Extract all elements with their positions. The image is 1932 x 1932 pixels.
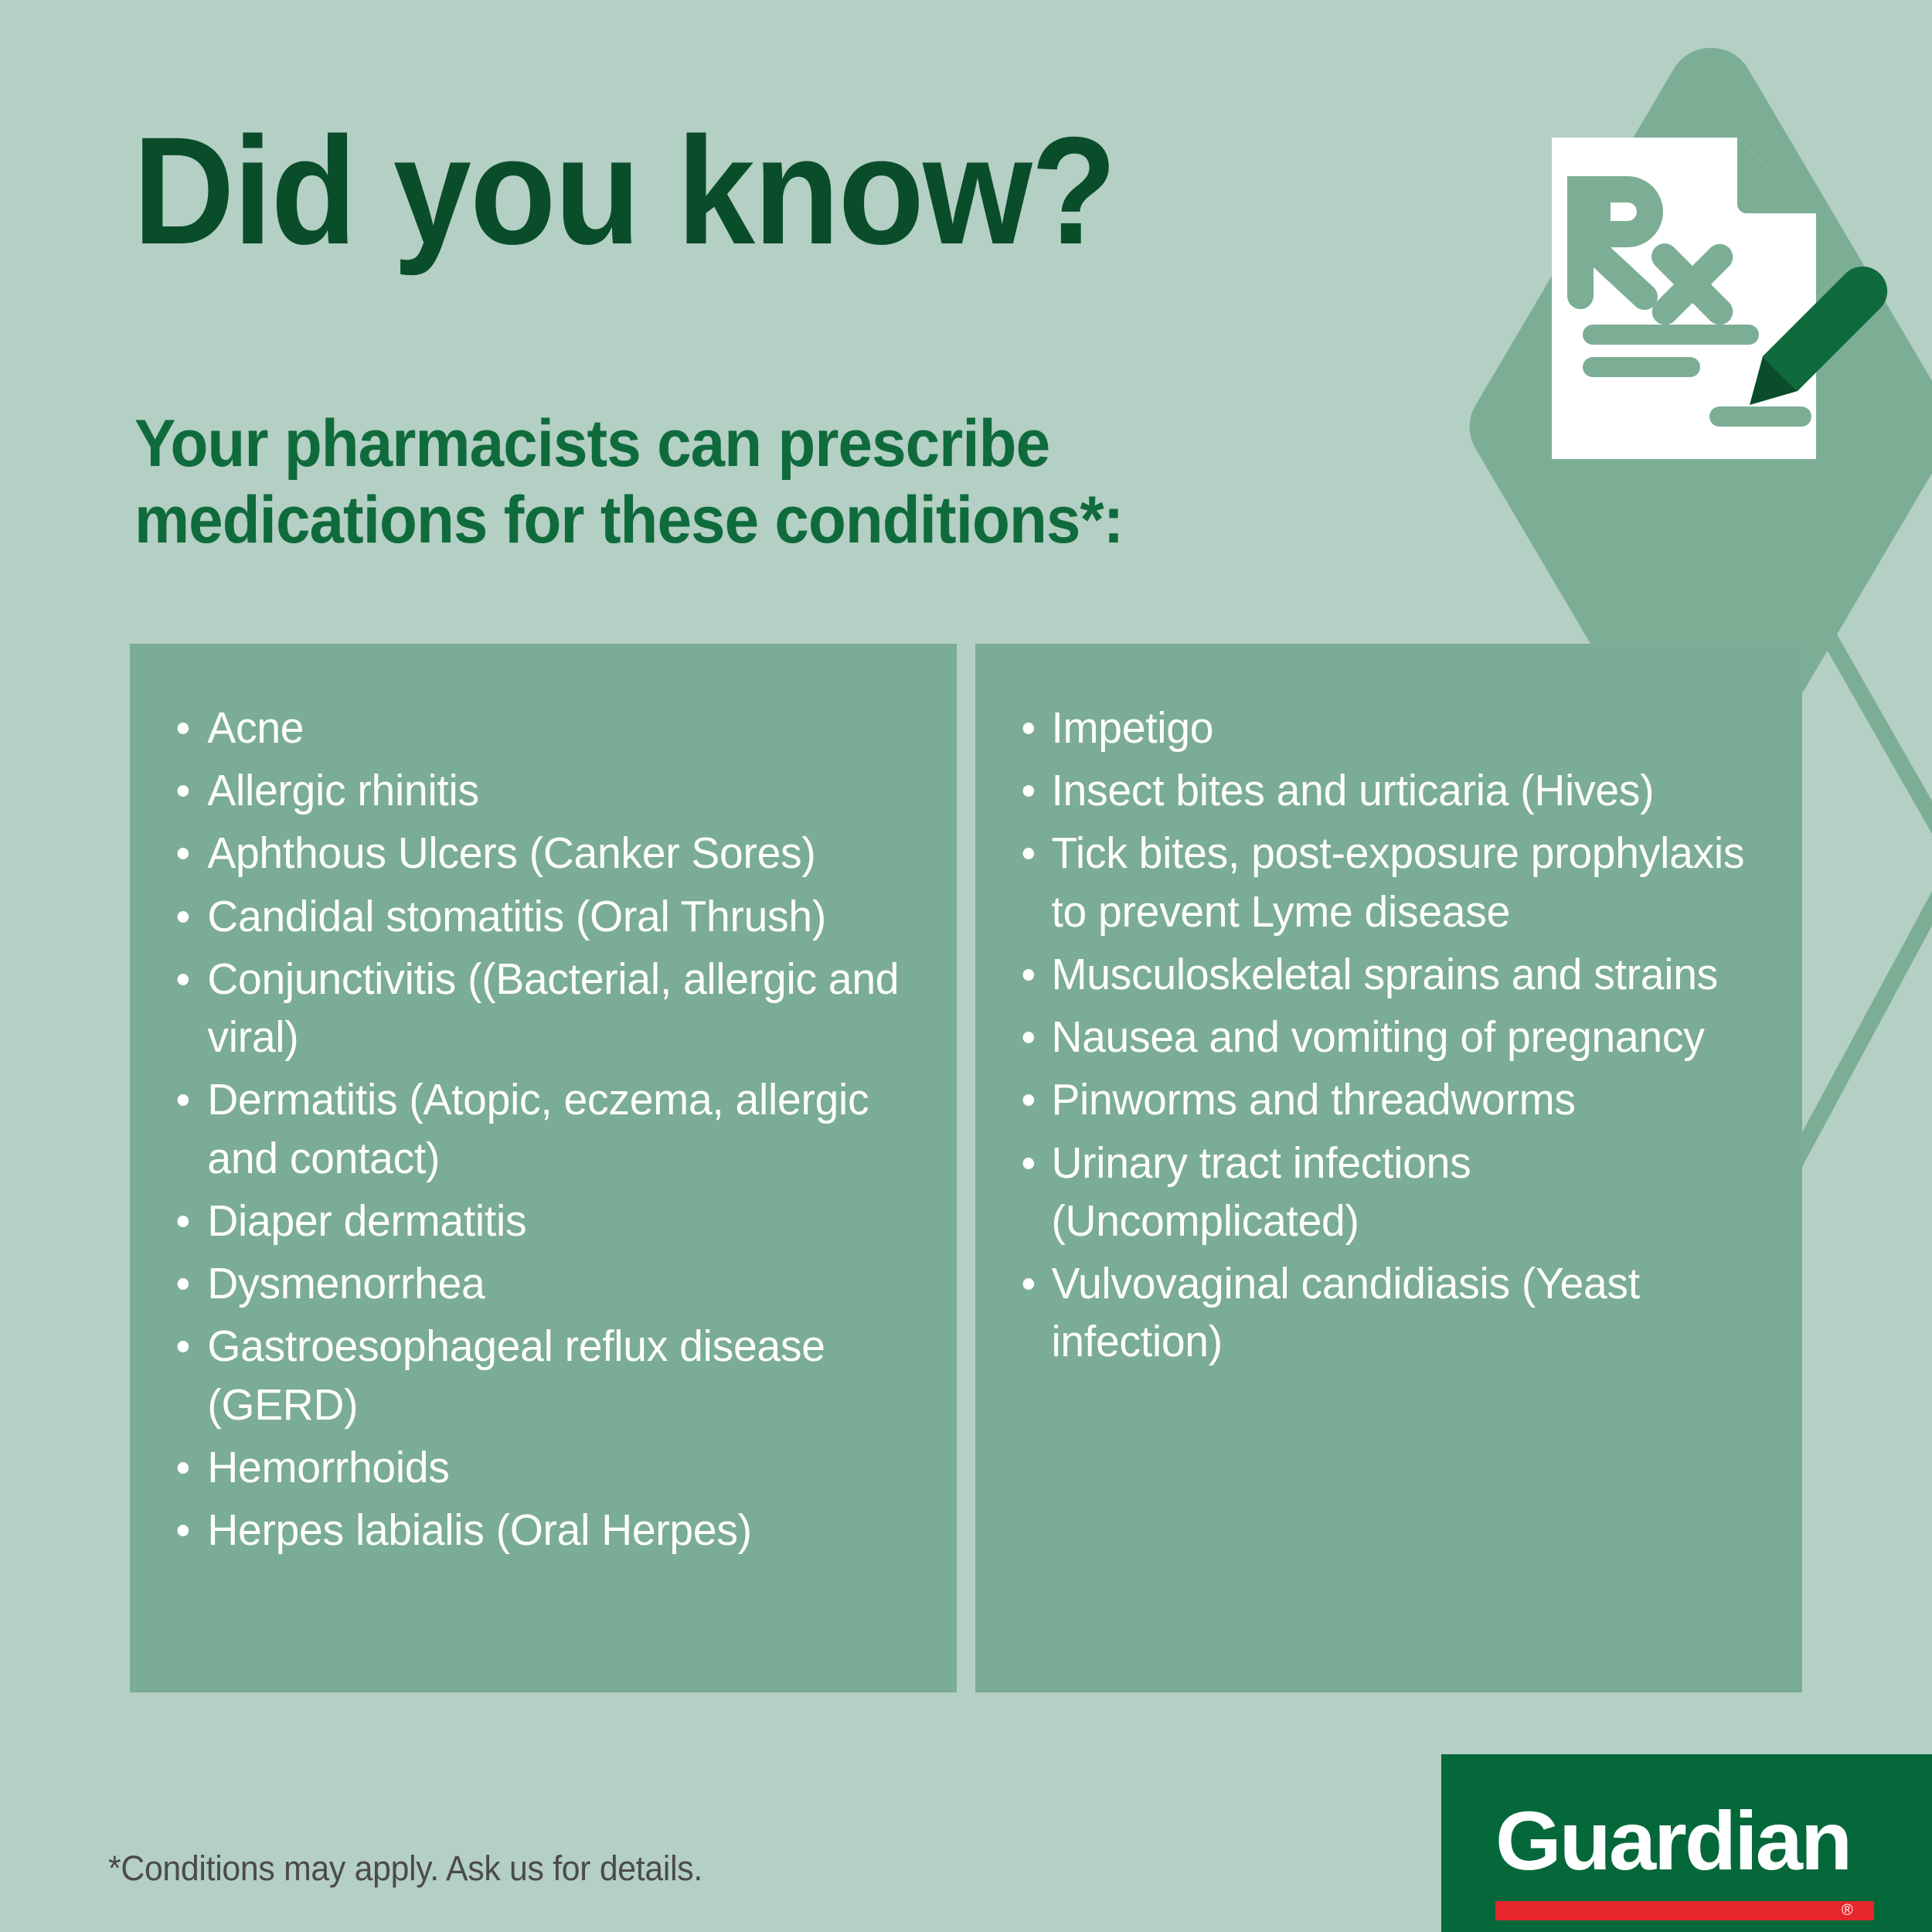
conditions-list-left: Acne Allergic rhinitis Aphthous Ulcers (… (167, 699, 926, 1560)
list-item: Herpes labialis (Oral Herpes) (167, 1502, 903, 1560)
document-line-2 (1583, 357, 1700, 377)
conditions-card-right: Impetigo Insect bites and urticaria (Hiv… (975, 644, 1802, 1692)
list-item: Dermatitis (Atopic, eczema, allergic and… (167, 1071, 903, 1187)
footnote-disclaimer: *Conditions may apply. Ask us for detail… (108, 1849, 702, 1889)
list-item: Candidal stomatitis (Oral Thrush) (167, 888, 903, 946)
list-item: Allergic rhinitis (167, 762, 903, 820)
guardian-logo: Guardian ® (1441, 1754, 1932, 1932)
list-item: Nausea and vomiting of pregnancy (1012, 1009, 1749, 1066)
list-item: Hemorrhoids (167, 1439, 903, 1497)
page-title: Did you know? (133, 114, 1115, 267)
list-item: Conjunctivitis ((Bacterial, allergic and… (167, 951, 903, 1066)
list-item: Musculoskeletal sprains and strains (1012, 946, 1749, 1004)
list-item: Dysmenorrhea (167, 1255, 903, 1313)
list-item: Tick bites, post-exposure prophylaxis to… (1012, 825, 1749, 940)
list-item: Insect bites and urticaria (Hives) (1012, 762, 1749, 820)
guardian-red-bar (1495, 1901, 1874, 1920)
conditions-list-right: Impetigo Insect bites and urticaria (Hiv… (1012, 699, 1771, 1372)
conditions-card-left: Acne Allergic rhinitis Aphthous Ulcers (… (130, 644, 957, 1692)
list-item: Urinary tract infections (Uncomplicated) (1012, 1134, 1749, 1250)
list-item: Gastroesophageal reflux disease (GERD) (167, 1318, 903, 1434)
page-subtitle: Your pharmacists can prescribe medicatio… (134, 406, 1213, 559)
list-item: Diaper dermatitis (167, 1192, 903, 1250)
rx-prescription-icon (1538, 131, 1893, 464)
document-signature-line (1709, 406, 1811, 427)
guardian-wordmark: Guardian (1495, 1799, 1850, 1883)
list-item: Impetigo (1012, 699, 1749, 757)
list-item: Acne (167, 699, 903, 757)
document-fold-corner (1737, 138, 1816, 213)
registered-trademark-mark: ® (1842, 1903, 1853, 1918)
list-item: Pinworms and threadworms (1012, 1071, 1749, 1129)
list-item: Aphthous Ulcers (Canker Sores) (167, 825, 903, 883)
list-item: Vulvovaginal candidiasis (Yeast infectio… (1012, 1255, 1749, 1371)
document-line-1 (1583, 325, 1759, 345)
